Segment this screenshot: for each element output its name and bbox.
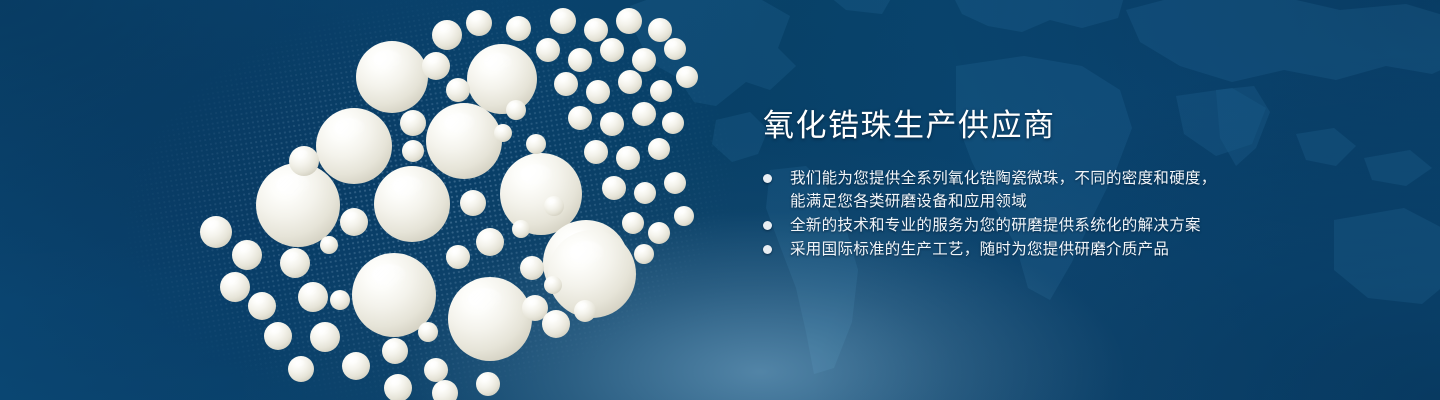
bead: [426, 103, 502, 179]
bead: [616, 8, 642, 34]
bead: [634, 244, 654, 264]
bead: [316, 108, 392, 184]
bead: [382, 338, 408, 364]
hero-banner: 氧化锆珠生产供应商 我们能为您提供全系列氧化锆陶瓷微珠，不同的密度和硬度， 能满…: [0, 0, 1440, 400]
bead: [466, 10, 492, 36]
bead: [432, 20, 462, 50]
bead: [618, 70, 642, 94]
bead: [632, 102, 656, 126]
bead: [506, 16, 531, 41]
bead: [418, 322, 438, 342]
bead: [298, 282, 328, 312]
list-item: 采用国际标准的生产工艺，随时为您提供研磨介质产品: [763, 238, 1283, 261]
bead: [568, 48, 592, 72]
bead: [520, 256, 544, 280]
bead: [622, 212, 644, 234]
bead: [584, 18, 608, 42]
bead: [220, 272, 250, 302]
bead: [506, 100, 526, 120]
list-item: 我们能为您提供全系列氧化锆陶瓷微珠，不同的密度和硬度， 能满足您各类研磨设备和应…: [763, 167, 1283, 213]
bead: [568, 106, 592, 130]
page-title: 氧化锆珠生产供应商: [763, 106, 1283, 146]
bead: [446, 245, 470, 269]
bead: [674, 206, 694, 226]
bead: [280, 248, 310, 278]
bead: [600, 38, 624, 62]
bead: [340, 208, 368, 236]
bead: [289, 146, 319, 176]
bead: [544, 196, 564, 216]
bead: [544, 276, 562, 294]
bead: [600, 112, 624, 136]
bead: [584, 140, 608, 164]
bead: [648, 222, 670, 244]
bead: [676, 66, 698, 88]
bead: [374, 166, 450, 242]
product-image-zirconia-beads: [170, 0, 730, 400]
bead: [264, 322, 292, 350]
bead: [446, 78, 470, 102]
bead: [602, 176, 626, 200]
bead: [467, 44, 537, 114]
bead: [616, 146, 640, 170]
list-item-line-1: 我们能为您提供全系列氧化锆陶瓷微珠，不同的密度和硬度，: [790, 170, 1217, 187]
bead: [248, 292, 276, 320]
bead: [288, 356, 314, 382]
list-item-line-1: 全新的技术和专业的服务为您的研磨提供系统化的解决方案: [790, 217, 1201, 234]
bead: [542, 310, 570, 338]
bead: [664, 172, 686, 194]
bead: [402, 140, 424, 162]
bead: [476, 228, 504, 256]
bead: [200, 216, 232, 248]
bead: [460, 190, 486, 216]
bead: [662, 112, 684, 134]
feature-list: 我们能为您提供全系列氧化锆陶瓷微珠，不同的密度和硬度， 能满足您各类研磨设备和应…: [763, 167, 1283, 261]
bead: [320, 236, 338, 254]
list-item-line-2: 能满足您各类研磨设备和应用领域: [790, 190, 1283, 213]
bead: [476, 372, 500, 396]
bead: [526, 134, 546, 154]
bead: [384, 374, 412, 400]
bead: [536, 38, 560, 62]
list-item-line-1: 采用国际标准的生产工艺，随时为您提供研磨介质产品: [790, 241, 1169, 258]
bead: [574, 300, 596, 322]
bead: [448, 277, 532, 361]
bead: [632, 48, 656, 72]
banner-copy: 氧化锆珠生产供应商 我们能为您提供全系列氧化锆陶瓷微珠，不同的密度和硬度， 能满…: [763, 106, 1283, 261]
bead: [512, 220, 530, 238]
bead: [648, 18, 672, 42]
bead: [356, 41, 428, 113]
bead: [550, 8, 576, 34]
bead: [256, 163, 340, 247]
bullet-dot-icon: [763, 221, 772, 230]
bullet-dot-icon: [763, 174, 772, 183]
bead: [424, 358, 448, 382]
bead: [650, 80, 672, 102]
bead: [634, 182, 656, 204]
bead: [310, 322, 340, 352]
bead: [432, 380, 458, 400]
bead: [422, 52, 450, 80]
bead: [342, 352, 370, 380]
bead: [494, 124, 512, 142]
bead: [586, 80, 610, 104]
bead: [648, 138, 670, 160]
bead: [554, 72, 578, 96]
bead: [232, 240, 262, 270]
bullet-dot-icon: [763, 245, 772, 254]
bead: [330, 290, 350, 310]
bead: [664, 38, 686, 60]
bead: [400, 110, 426, 136]
list-item: 全新的技术和专业的服务为您的研磨提供系统化的解决方案: [763, 214, 1283, 237]
